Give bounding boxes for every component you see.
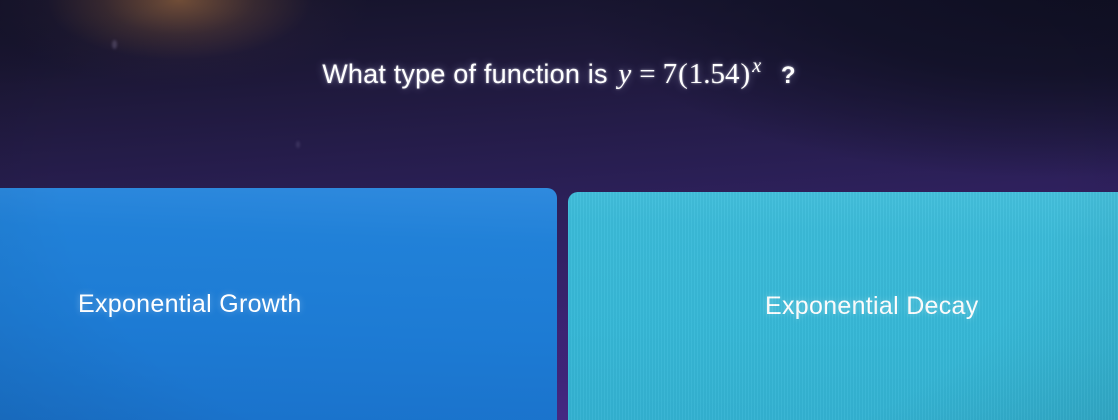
question-prefix-text: What type of function is: [322, 59, 607, 89]
answer-option-exponential-decay[interactable]: Exponential Decay: [568, 192, 1118, 420]
formula-close-paren: ): [740, 58, 752, 90]
formula-variable: y: [618, 58, 632, 90]
question-prompt: What type of function is y=7(1.54)x ?: [0, 58, 1118, 91]
formula-exponent: x: [752, 55, 761, 77]
formula-equals: =: [639, 58, 655, 90]
formula-base: 1.54: [689, 58, 740, 90]
answer-label: Exponential Decay: [568, 292, 979, 321]
background-speck: [112, 40, 117, 49]
answer-option-exponential-growth[interactable]: Exponential Growth: [0, 188, 557, 420]
answer-options: Exponential Growth Exponential Decay: [0, 188, 1118, 420]
question-formula: y=7(1.54)x: [618, 58, 761, 91]
quiz-screen: What type of function is y=7(1.54)x ? Ex…: [0, 0, 1118, 420]
tile-texture: [568, 192, 1118, 420]
answer-label: Exponential Growth: [0, 290, 302, 319]
formula-coefficient: 7: [663, 58, 678, 90]
formula-open-paren: (: [677, 58, 689, 90]
question-mark: ?: [781, 62, 796, 89]
background-speck: [296, 141, 300, 148]
